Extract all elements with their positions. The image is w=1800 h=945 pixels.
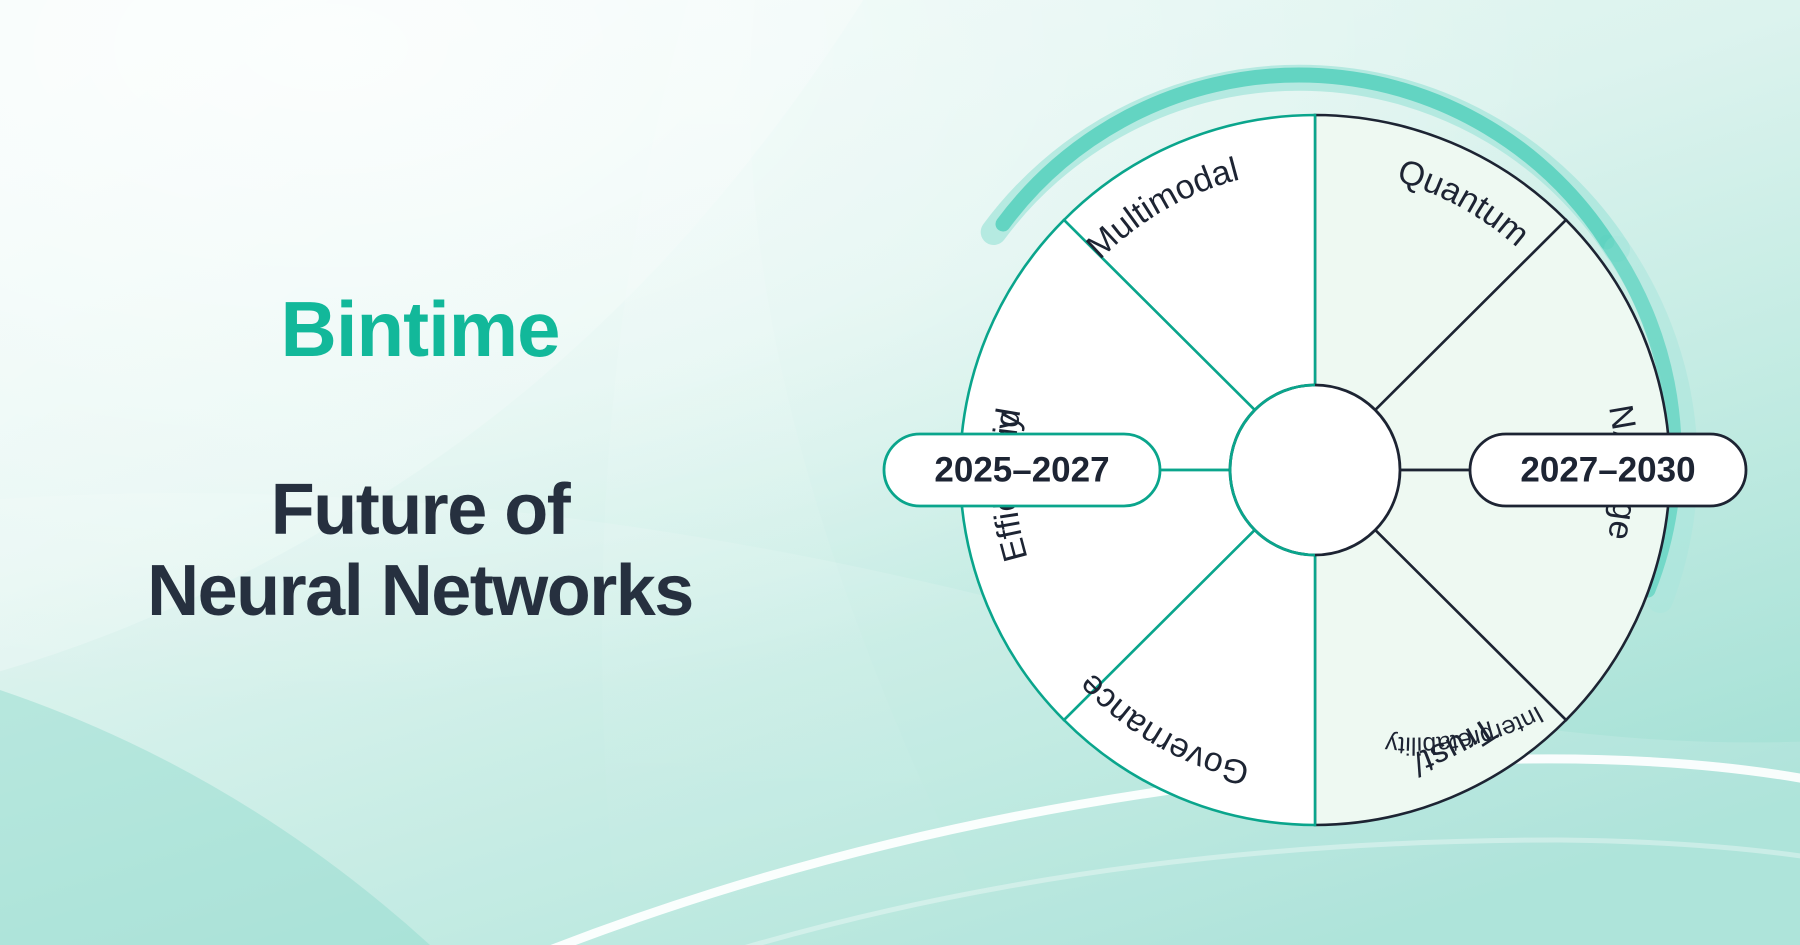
poster-canvas: Bintime Future of Neural Networks bbox=[0, 0, 1800, 945]
future-wheel-diagram: Hybrid Multimodal Governance Efficiency … bbox=[0, 0, 1800, 945]
period-pill-right[interactable]: 2027–2030 bbox=[1470, 434, 1746, 506]
period-pill-right-label: 2027–2030 bbox=[1520, 451, 1695, 490]
period-pill-left-label: 2025–2027 bbox=[934, 451, 1109, 490]
period-pill-left[interactable]: 2025–2027 bbox=[884, 434, 1160, 506]
